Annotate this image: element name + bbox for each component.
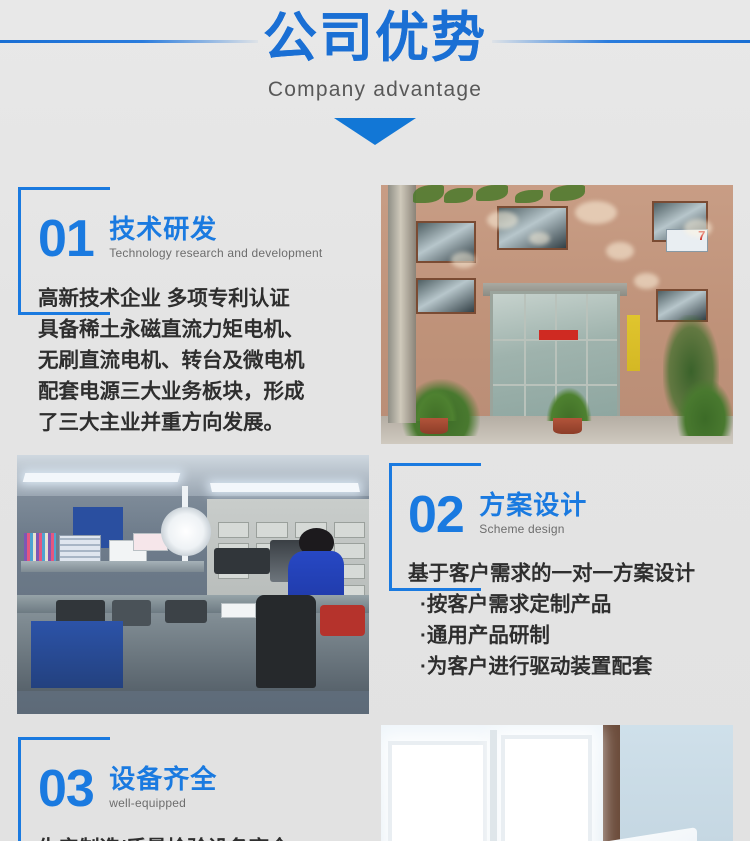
page-title: 公司优势 [0, 6, 750, 70]
body-line: 高新技术企业 多项专利认证 [38, 283, 305, 314]
company-advantage-page: 公司优势 Company advantage 01 技术研发 Technolog… [0, 0, 750, 841]
testing-equipment-photo [381, 725, 733, 841]
bullet-item: ·通用产品研制 [408, 620, 695, 651]
section-title-cn-02: 方案设计 [479, 490, 587, 520]
section-title-en-03: well-equipped [109, 795, 217, 811]
section-number-03: 03 [38, 760, 94, 818]
laboratory-workbench-photo [17, 455, 369, 714]
section-body-03: 生产制造/质量检验设备齐全 [38, 833, 290, 841]
body-line: 基于客户需求的一对一方案设计 [408, 558, 695, 589]
section-title-cn-01: 技术研发 [109, 214, 322, 244]
company-building-photo [381, 185, 733, 444]
section-02: 02 方案设计 Scheme design 基于客户需求的一对一方案设计 ·按客… [0, 455, 750, 725]
body-line: 配套电源三大业务板块，形成 [38, 376, 305, 407]
section-title-cn-03: 设备齐全 [109, 764, 217, 794]
section-heading-01: 01 技术研发 Technology research and developm… [38, 210, 322, 268]
bullet-item: ·按客户需求定制产品 [408, 589, 695, 620]
section-01: 01 技术研发 Technology research and developm… [0, 165, 750, 455]
section-number-01: 01 [38, 210, 94, 268]
body-line: 无刷直流电机、转台及微电机 [38, 345, 305, 376]
section-heading-03: 03 设备齐全 well-equipped [38, 760, 217, 818]
section-title-en-01: Technology research and development [109, 245, 322, 261]
section-body-01: 高新技术企业 多项专利认证 具备稀土永磁直流力矩电机、 无刷直流电机、转台及微电… [38, 283, 305, 438]
body-line: 具备稀土永磁直流力矩电机、 [38, 314, 305, 345]
section-title-en-02: Scheme design [479, 521, 587, 537]
body-line: 了三大主业并重方向发展。 [38, 407, 305, 438]
section-body-02: 基于客户需求的一对一方案设计 ·按客户需求定制产品 ·通用产品研制 ·为客户进行… [408, 558, 695, 682]
triangle-down-icon [334, 118, 416, 145]
section-03: 03 设备齐全 well-equipped 生产制造/质量检验设备齐全 [0, 725, 750, 841]
section-heading-02: 02 方案设计 Scheme design [408, 486, 587, 544]
page-subtitle: Company advantage [0, 77, 750, 103]
bullet-item: ·为客户进行驱动装置配套 [408, 651, 695, 682]
page-header: 公司优势 Company advantage [0, 0, 750, 165]
body-line: 生产制造/质量检验设备齐全 [38, 833, 290, 841]
section-number-02: 02 [408, 486, 464, 544]
